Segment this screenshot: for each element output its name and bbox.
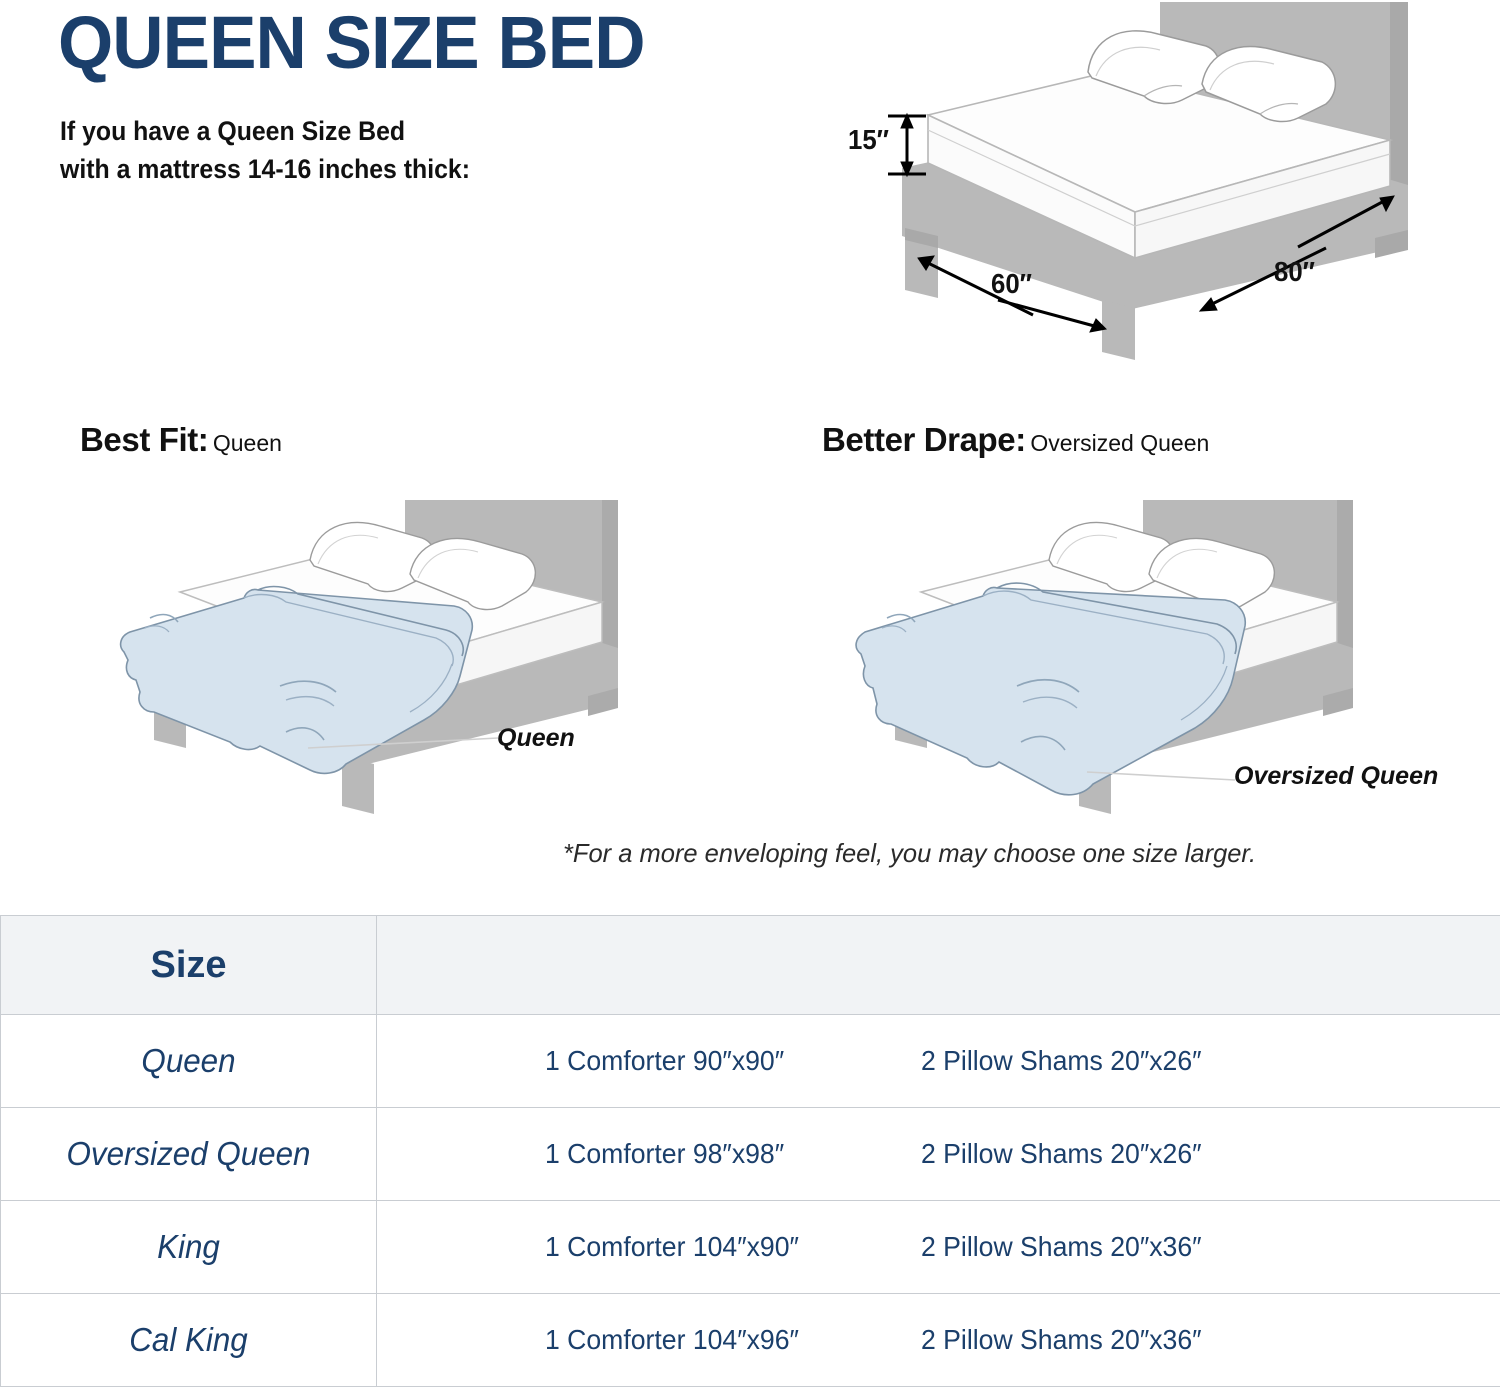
shams-spec: 2 Pillow Shams 20″x36″ [921, 1231, 1202, 1263]
comforter-spec: 1 Comforter 104″x96″ [545, 1324, 902, 1356]
shams-spec: 2 Pillow Shams 20″x26″ [921, 1045, 1202, 1077]
shams-spec: 2 Pillow Shams 20″x36″ [921, 1324, 1202, 1356]
table-header-row: Size [1, 916, 1500, 1015]
size-label: Cal King [10, 1321, 366, 1359]
cell-items: 1 Comforter 104″x90″ 2 Pillow Shams 20″x… [377, 1201, 1500, 1294]
hero-bed-illustration [830, 0, 1500, 350]
comforter-spec: 1 Comforter 90″x90″ [545, 1045, 902, 1077]
cell-size: Queen [1, 1015, 377, 1108]
size-label: Oversized Queen [10, 1135, 366, 1173]
best-fit-value: Queen [213, 430, 282, 456]
shams-spec: 2 Pillow Shams 20″x26″ [921, 1138, 1202, 1170]
comforter-spec: 1 Comforter 98″x98″ [545, 1138, 902, 1170]
table-row: Oversized Queen 1 Comforter 98″x98″ 2 Pi… [1, 1108, 1500, 1201]
best-fit-heading: Best Fit: Queen [80, 421, 282, 459]
better-drape-callout: Oversized Queen [1234, 762, 1438, 791]
cell-size: Oversized Queen [1, 1108, 377, 1201]
comforter-spec: 1 Comforter 104″x90″ [545, 1231, 902, 1263]
hero-width-label: 60″ [991, 268, 1032, 300]
table-row: Cal King 1 Comforter 104″x96″ 2 Pillow S… [1, 1294, 1500, 1387]
size-label: Queen [10, 1042, 366, 1080]
footnote-text: *For a more enveloping feel, you may cho… [563, 838, 1256, 869]
best-fit-callout: Queen [497, 724, 575, 753]
cell-items: 1 Comforter 98″x98″ 2 Pillow Shams 20″x2… [377, 1108, 1500, 1201]
cell-size: Cal King [1, 1294, 377, 1387]
best-fit-label: Best Fit: [80, 421, 208, 458]
page-subtitle: If you have a Queen Size Bed with a matt… [60, 112, 470, 188]
table-row: Queen 1 Comforter 90″x90″ 2 Pillow Shams… [1, 1015, 1500, 1108]
cell-items: 1 Comforter 104″x96″ 2 Pillow Shams 20″x… [377, 1294, 1500, 1387]
hero-length-label: 80″ [1274, 256, 1315, 288]
size-table: Size Queen 1 Comforter 90″x90″ 2 Pillow … [0, 915, 1500, 1387]
column-header-size: Size [1, 916, 377, 1015]
infographic-page: QUEEN SIZE BED If you have a Queen Size … [0, 0, 1500, 1383]
cell-items: 1 Comforter 90″x90″ 2 Pillow Shams 20″x2… [377, 1015, 1500, 1108]
page-title: QUEEN SIZE BED [58, 2, 645, 84]
comforter [856, 583, 1245, 795]
hero-height-label: 15″ [848, 124, 889, 156]
column-header-items [377, 916, 1500, 1015]
cell-size: King [1, 1201, 377, 1294]
table-row: King 1 Comforter 104″x90″ 2 Pillow Shams… [1, 1201, 1500, 1294]
size-label: King [10, 1228, 366, 1266]
better-drape-label: Better Drape: [822, 421, 1026, 458]
better-drape-heading: Better Drape: Oversized Queen [822, 421, 1209, 459]
better-drape-value: Oversized Queen [1030, 430, 1209, 456]
best-fit-bed-illustration [110, 480, 670, 820]
